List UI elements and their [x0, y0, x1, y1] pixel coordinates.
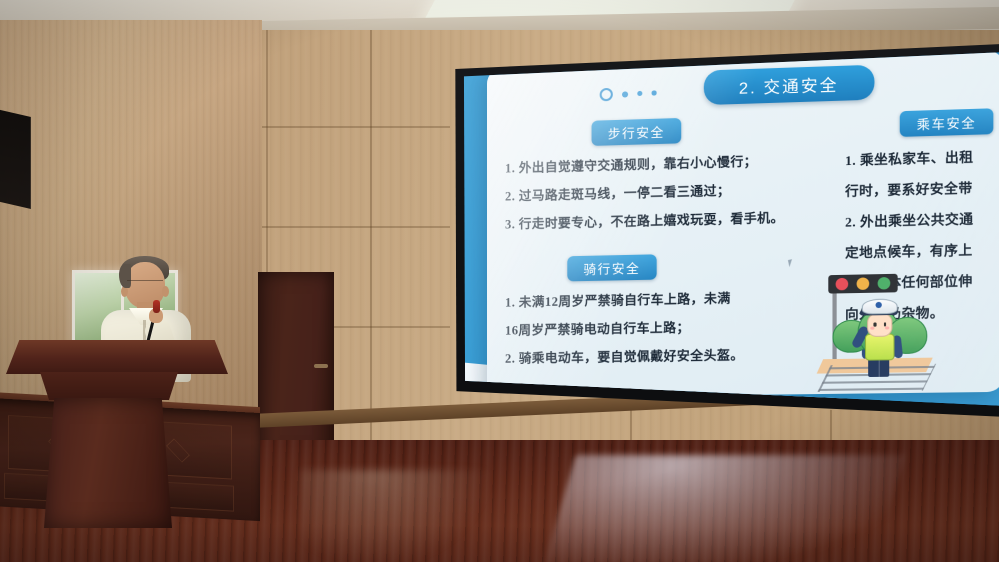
decor-dots-left — [600, 86, 656, 101]
pause-icon[interactable]: ◉ — [488, 406, 502, 420]
policeman-figure — [858, 298, 900, 375]
riding-line-2: 行时，要系好安全带 — [845, 175, 999, 200]
video-icon[interactable]: ▭ — [549, 406, 563, 420]
wall-speaker-icon — [0, 109, 31, 209]
cycling-line-3: 2. 骑乘电动车，要自觉佩戴好安全头盔。 — [505, 343, 843, 367]
dot-ring — [600, 88, 613, 102]
microphone-icon — [153, 300, 160, 313]
section-heading-riding: 乘车安全 — [900, 108, 994, 137]
dot — [652, 91, 657, 96]
slide-content-card: 2. 交通安全 步行安全 1. 外出自觉遵守交通规则，靠右小心慢行； 2. 过马… — [487, 50, 999, 398]
dot — [622, 91, 628, 97]
cycling-line-2: 16周岁严禁骑电动自行车上路； — [505, 314, 843, 339]
walking-line-1: 1. 外出自觉遵守交通规则，靠右小心慢行； — [505, 149, 812, 177]
riding-line-1: 1. 乘坐私家车、出租 — [845, 144, 999, 169]
ear — [162, 286, 169, 297]
emoji-icon[interactable]: ☺ — [570, 406, 584, 420]
podium-top — [6, 340, 228, 374]
podium-column — [44, 398, 172, 528]
podium-neck — [34, 372, 184, 400]
traffic-light-yellow — [857, 277, 870, 290]
floor-reflection — [544, 455, 906, 562]
section-walking-safety: 步行安全 1. 外出自觉遵守交通规则，靠右小心慢行； 2. 过马路走斑马线，一停… — [505, 114, 812, 233]
screen-display[interactable]: 2. 交通安全 步行安全 1. 外出自觉遵守交通规则，靠右小心慢行； 2. 过马… — [453, 50, 999, 426]
traffic-policeman-illustration — [814, 269, 938, 392]
record-icon[interactable]: ◎ — [467, 406, 481, 420]
section-heading-walking: 步行安全 — [592, 118, 682, 146]
cycling-line-1: 1. 未满12周岁严禁骑自行车上路，未满 — [505, 285, 843, 311]
section-heading-cycling: 骑行安全 — [567, 254, 656, 281]
wall-seam — [250, 226, 450, 228]
crop-icon[interactable]: ⛶ — [528, 406, 542, 420]
podium — [28, 340, 228, 525]
screenshot-root: 2. 交通安全 步行安全 1. 外出自觉遵守交通规则，靠右小心慢行； 2. 过马… — [0, 0, 999, 562]
walking-line-2: 2. 过马路走斑马线，一停二看三通过； — [505, 177, 812, 204]
traffic-light-red — [836, 278, 849, 291]
walking-line-3: 3. 行走时要专心，不在路上嬉戏玩耍，看手机。 — [505, 206, 812, 233]
riding-line-3: 2. 外出乘坐公共交通 — [845, 206, 999, 230]
door[interactable] — [258, 272, 334, 457]
glasses — [127, 280, 163, 290]
riding-line-4: 定地点候车，有序上 — [845, 238, 999, 262]
projection-screen[interactable]: 2. 交通安全 步行安全 1. 外出自觉遵守交通规则，靠右小心慢行； 2. 过马… — [443, 44, 999, 434]
back-chevron-icon[interactable]: ‹ — [591, 407, 603, 419]
dot — [637, 91, 642, 96]
floor-reflection — [300, 470, 490, 562]
wall-seam — [250, 126, 450, 128]
traffic-light-icon — [828, 274, 897, 294]
traffic-light-green — [878, 277, 891, 290]
section-cycling-safety: 骑行安全 1. 未满12周岁严禁骑自行车上路，未满 16周岁严禁骑电动自行车上路… — [505, 250, 843, 366]
face — [867, 313, 892, 337]
pen-icon[interactable]: ✎ — [509, 407, 521, 419]
slide-toolbar[interactable]: ◎ ◉ ✎ ⛶ ▭ ☺ ‹ — [467, 406, 603, 420]
hi-vis-vest — [865, 333, 895, 360]
door-handle[interactable] — [314, 364, 328, 368]
slide-title: 2. 交通安全 — [704, 65, 874, 105]
